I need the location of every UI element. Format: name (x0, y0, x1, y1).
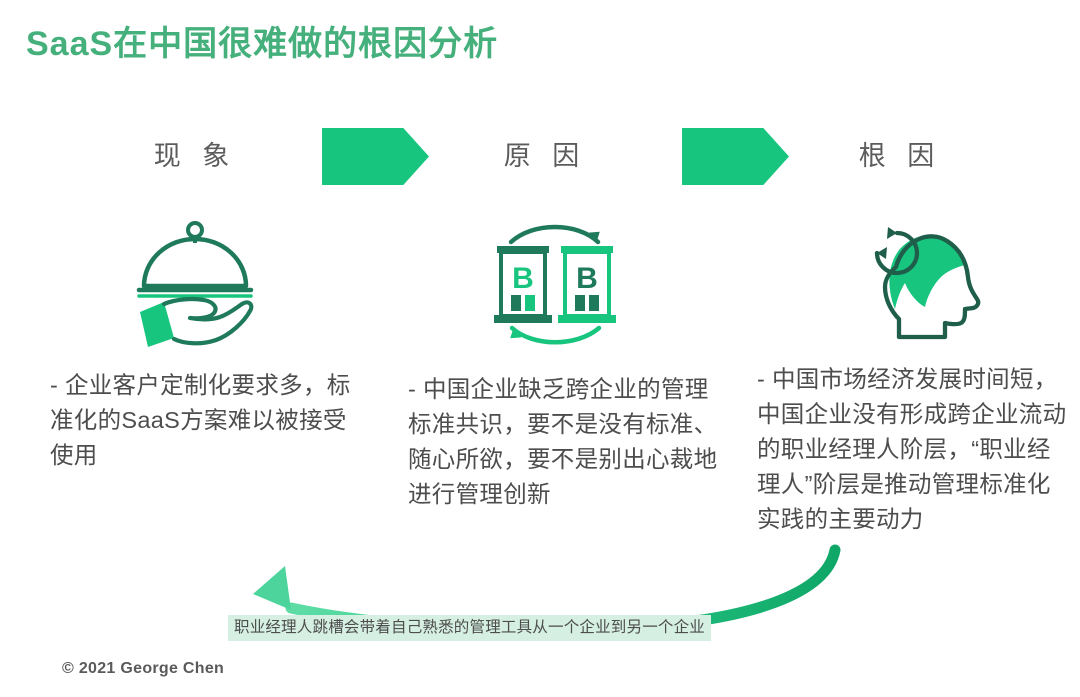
stage-icon-row: B B (0, 212, 1080, 352)
column-text-phenomenon: - 企业客户定制化要求多，标准化的SaaS方案难以被接受使用 (50, 368, 370, 473)
column-text-root-cause: - 中国市场经济发展时间短，中国企业没有形成跨企业流动的职业经理人阶层，“职业经… (757, 362, 1072, 537)
slide-canvas: SaaS在中国很难做的根因分析 现 象 原 因 根 因 (0, 0, 1080, 697)
column-text-cause: - 中国企业缺乏跨企业的管理标准共识，要不是没有标准、随心所欲，要不是别出心裁地… (408, 372, 718, 512)
serving-tray-hand-icon (130, 216, 260, 348)
feedback-caption-highlight: 职业经理人跳槽会带着自己熟悉的管理工具从一个企业到另一个企业 (228, 615, 711, 641)
head-profile-refresh-icon (847, 215, 983, 349)
page-title: SaaS在中国很难做的根因分析 (26, 16, 498, 65)
svg-text:B: B (512, 262, 534, 295)
stage-header-row: 现 象 原 因 根 因 (0, 128, 1080, 192)
feedback-caption-text: 职业经理人跳槽会带着自己熟悉的管理工具从一个企业到另一个企业 (234, 618, 705, 638)
stage-label-phenomenon: 现 象 (120, 134, 270, 173)
b2b-buildings-exchange-icon: B B (481, 216, 629, 348)
building-left: B (494, 246, 552, 323)
stage-label-cause: 原 因 (470, 134, 620, 173)
stage-label-root-cause: 根 因 (825, 134, 975, 173)
icon-cell-cause: B B (455, 212, 655, 352)
stage-arrow-1-icon (322, 128, 429, 185)
copyright-footer: © 2021 George Chen (62, 660, 224, 678)
svg-text:B: B (576, 262, 598, 295)
building-right: B (558, 246, 616, 323)
stage-arrow-2-icon (682, 128, 789, 185)
icon-cell-root-cause (815, 212, 1015, 352)
icon-cell-phenomenon (95, 212, 295, 352)
